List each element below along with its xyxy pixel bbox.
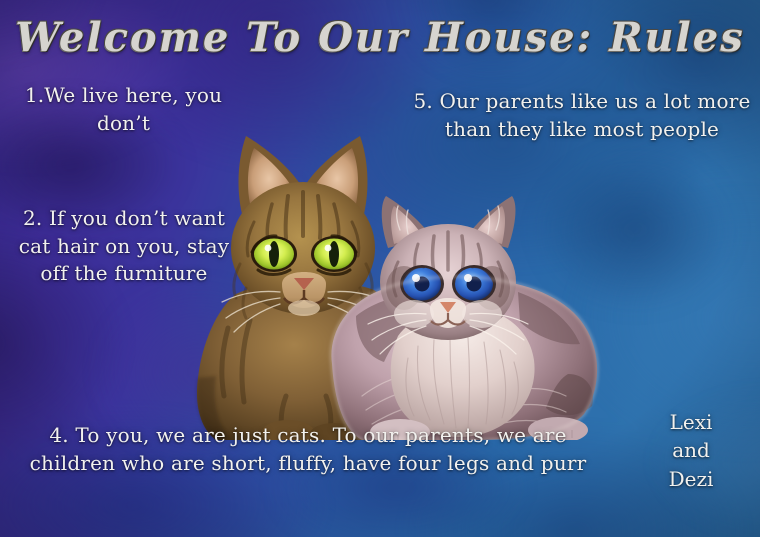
- rule-item-5: 5. Our parents like us a lot more than t…: [412, 88, 752, 143]
- signature-line-2: and: [632, 436, 750, 464]
- signature-line-1: Lexi: [632, 408, 750, 436]
- rule-item-4: 4. To you, we are just cats. To our pare…: [12, 422, 604, 477]
- rule-item-2: 2. If you don’t want cat hair on you, st…: [8, 205, 240, 288]
- signature: Lexi and Dezi: [632, 408, 750, 493]
- signature-line-3: Dezi: [632, 465, 750, 493]
- rule-item-1: 1.We live here, you don’t: [16, 82, 231, 137]
- page-title: Welcome To Our House: Rules: [0, 14, 760, 61]
- cat-rules-poster: Welcome To Our House: Rules 1.We live he…: [0, 0, 760, 537]
